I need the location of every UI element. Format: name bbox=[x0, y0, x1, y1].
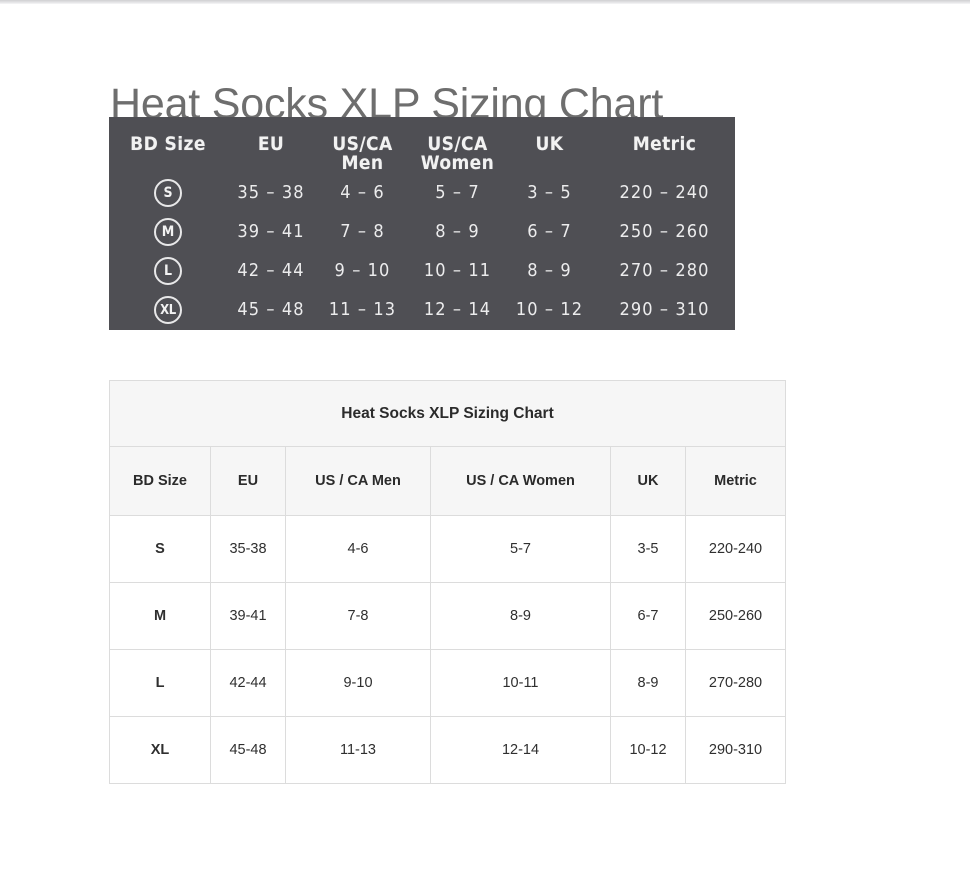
cell-bd-size: XL bbox=[110, 717, 211, 784]
dark-cell-eu: 42 – 44 bbox=[227, 252, 315, 291]
size-circle-icon: S bbox=[154, 179, 182, 207]
cell-us-ca-men: 11-13 bbox=[286, 717, 431, 784]
column-header-eu: EU bbox=[211, 447, 286, 516]
size-circle-icon: L bbox=[154, 257, 182, 285]
table-row: XL 45-48 11-13 12-14 10-12 290-310 bbox=[110, 717, 786, 784]
dark-cell-uk: 3 – 5 bbox=[505, 173, 594, 212]
dark-header-us-ca-men-sublabel: Men bbox=[315, 154, 410, 173]
size-badge-cell: XL bbox=[109, 291, 227, 330]
dark-cell-metric: 250 – 260 bbox=[594, 212, 735, 251]
cell-uk: 8-9 bbox=[611, 650, 686, 717]
dark-cell-men: 7 – 8 bbox=[315, 212, 410, 251]
dark-header-metric: Metric bbox=[594, 117, 735, 173]
dark-sizing-chart-image: BD Size EU US/CA Men US/CA Women UK bbox=[109, 117, 735, 330]
cell-us-ca-men: 7-8 bbox=[286, 583, 431, 650]
dark-header-uk: UK bbox=[505, 117, 594, 173]
column-header-metric: Metric bbox=[686, 447, 786, 516]
cell-uk: 10-12 bbox=[611, 717, 686, 784]
size-badge-label: XL bbox=[160, 304, 176, 317]
cell-eu: 35-38 bbox=[211, 516, 286, 583]
table-row: L 42-44 9-10 10-11 8-9 270-280 bbox=[110, 650, 786, 717]
cell-metric: 290-310 bbox=[686, 717, 786, 784]
dark-header-metric-label: Metric bbox=[633, 133, 697, 155]
dark-cell-uk: 8 – 9 bbox=[505, 252, 594, 291]
dark-header-bd-size: BD Size bbox=[109, 117, 227, 173]
dark-cell-men: 4 – 6 bbox=[315, 173, 410, 212]
cell-bd-size: S bbox=[110, 516, 211, 583]
sizing-data-table: Heat Socks XLP Sizing Chart BD Size EU U… bbox=[109, 380, 786, 784]
cell-us-ca-women: 5-7 bbox=[431, 516, 611, 583]
cell-us-ca-men: 4-6 bbox=[286, 516, 431, 583]
size-badge-label: M bbox=[162, 225, 175, 239]
table-header-row: BD Size EU US / CA Men US / CA Women UK … bbox=[110, 447, 786, 516]
table-caption-row: Heat Socks XLP Sizing Chart bbox=[110, 381, 786, 447]
dark-cell-uk: 6 – 7 bbox=[505, 212, 594, 251]
table-row: S 35 – 38 4 – 6 5 – 7 3 – 5 220 – 240 bbox=[109, 173, 735, 212]
dark-chart-body: S 35 – 38 4 – 6 5 – 7 3 – 5 220 – 240 M bbox=[109, 173, 735, 330]
cell-bd-size: M bbox=[110, 583, 211, 650]
dark-header-uk-label: UK bbox=[536, 133, 564, 155]
size-badge-cell: L bbox=[109, 252, 227, 291]
cell-uk: 6-7 bbox=[611, 583, 686, 650]
sizing-table-body: S 35-38 4-6 5-7 3-5 220-240 M 39-41 7-8 … bbox=[110, 516, 786, 784]
cell-uk: 3-5 bbox=[611, 516, 686, 583]
dark-cell-eu: 35 – 38 bbox=[227, 173, 315, 212]
dark-header-us-ca-women: US/CA Women bbox=[410, 117, 505, 173]
column-header-uk: UK bbox=[611, 447, 686, 516]
cell-eu: 45-48 bbox=[211, 717, 286, 784]
dark-cell-metric: 290 – 310 bbox=[594, 291, 735, 330]
size-circle-icon: XL bbox=[154, 296, 182, 324]
cell-us-ca-women: 12-14 bbox=[431, 717, 611, 784]
size-badge-cell: S bbox=[109, 173, 227, 212]
dark-cell-metric: 270 – 280 bbox=[594, 252, 735, 291]
table-row: M 39-41 7-8 8-9 6-7 250-260 bbox=[110, 583, 786, 650]
column-header-us-ca-women: US / CA Women bbox=[431, 447, 611, 516]
cell-us-ca-women: 10-11 bbox=[431, 650, 611, 717]
cell-eu: 42-44 bbox=[211, 650, 286, 717]
dark-cell-eu: 39 – 41 bbox=[227, 212, 315, 251]
dark-cell-women: 5 – 7 bbox=[410, 173, 505, 212]
cell-us-ca-men: 9-10 bbox=[286, 650, 431, 717]
cell-bd-size: L bbox=[110, 650, 211, 717]
dark-header-bd-size-label: BD Size bbox=[130, 133, 206, 155]
dark-header-row: BD Size EU US/CA Men US/CA Women UK bbox=[109, 117, 735, 173]
dark-cell-eu: 45 – 48 bbox=[227, 291, 315, 330]
dark-cell-metric: 220 – 240 bbox=[594, 173, 735, 212]
dark-cell-men: 9 – 10 bbox=[315, 252, 410, 291]
table-row: L 42 – 44 9 – 10 10 – 11 8 – 9 270 – 280 bbox=[109, 252, 735, 291]
dark-cell-uk: 10 – 12 bbox=[505, 291, 594, 330]
cell-us-ca-women: 8-9 bbox=[431, 583, 611, 650]
table-row: XL 45 – 48 11 – 13 12 – 14 10 – 12 290 –… bbox=[109, 291, 735, 330]
column-header-bd-size: BD Size bbox=[110, 447, 211, 516]
size-badge-label: S bbox=[163, 186, 172, 200]
table-row: M 39 – 41 7 – 8 8 – 9 6 – 7 250 – 260 bbox=[109, 212, 735, 251]
table-row: S 35-38 4-6 5-7 3-5 220-240 bbox=[110, 516, 786, 583]
dark-header-us-ca-women-sublabel: Women bbox=[410, 154, 505, 173]
dark-header-eu-label: EU bbox=[258, 133, 284, 155]
cell-metric: 220-240 bbox=[686, 516, 786, 583]
dark-cell-women: 10 – 11 bbox=[410, 252, 505, 291]
cell-eu: 39-41 bbox=[211, 583, 286, 650]
sizing-chart-page: Heat Socks XLP Sizing Chart BD Size EU U… bbox=[0, 0, 970, 880]
size-badge-cell: M bbox=[109, 212, 227, 251]
dark-header-us-ca-men: US/CA Men bbox=[315, 117, 410, 173]
size-circle-icon: M bbox=[154, 218, 182, 246]
dark-cell-women: 12 – 14 bbox=[410, 291, 505, 330]
cell-metric: 250-260 bbox=[686, 583, 786, 650]
dark-cell-women: 8 – 9 bbox=[410, 212, 505, 251]
cell-metric: 270-280 bbox=[686, 650, 786, 717]
dark-header-eu: EU bbox=[227, 117, 315, 173]
dark-cell-men: 11 – 13 bbox=[315, 291, 410, 330]
table-caption: Heat Socks XLP Sizing Chart bbox=[110, 381, 786, 447]
column-header-us-ca-men: US / CA Men bbox=[286, 447, 431, 516]
dark-sizing-grid: BD Size EU US/CA Men US/CA Women UK bbox=[109, 117, 735, 330]
size-badge-label: L bbox=[164, 264, 172, 278]
